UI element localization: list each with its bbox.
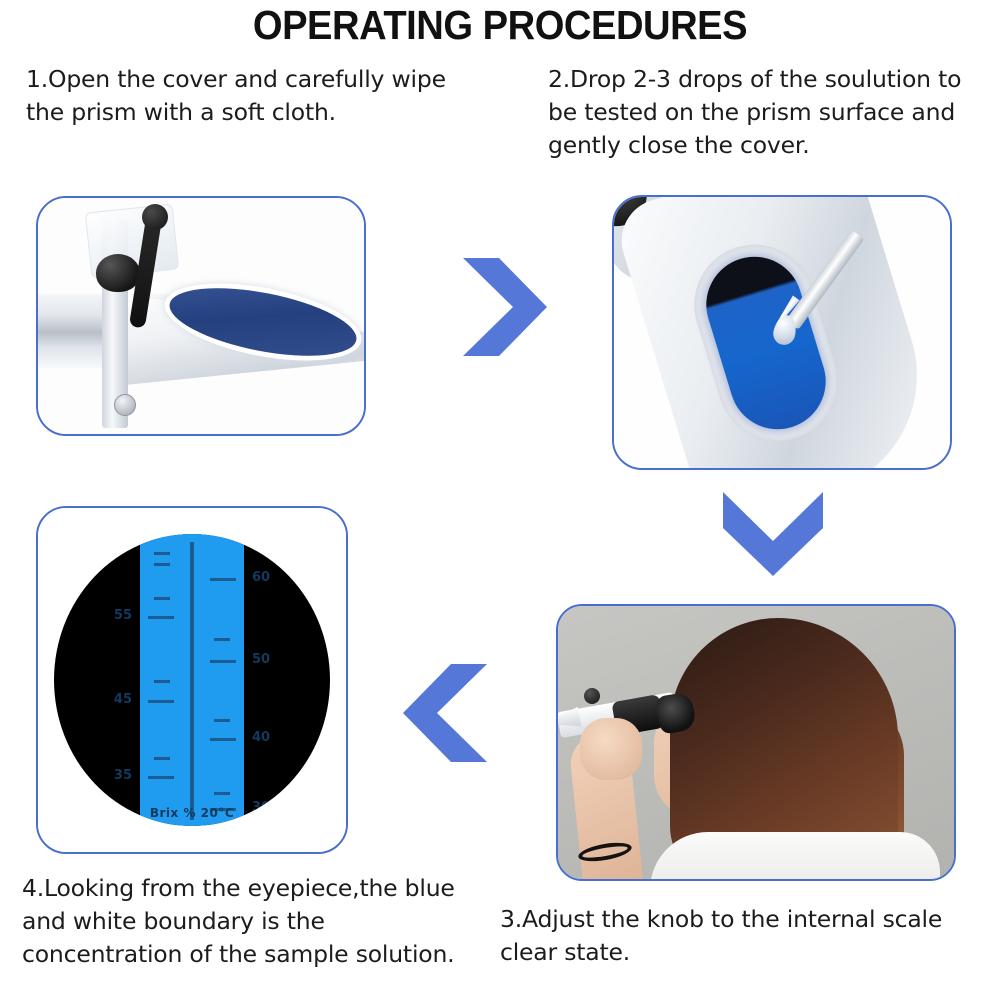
scale-tick-minor — [154, 552, 170, 555]
eyepiece-field-of-view: 60555045403530 Brix % 20°C — [54, 534, 330, 826]
scale-tick-minor — [154, 563, 170, 566]
page-title: OPERATING PROCEDURES — [35, 2, 965, 49]
scale-number: 30 — [252, 800, 270, 815]
step-1-caption: 1.Open the cover and carefully wipe the … — [26, 63, 466, 129]
scale-tick-minor — [154, 757, 170, 760]
scale-tick-minor — [154, 680, 170, 683]
woman-using-refractometer-image — [558, 606, 954, 879]
arrow-down-icon — [718, 486, 828, 578]
scale-number: 50 — [252, 652, 270, 667]
scale-tick-major — [148, 616, 174, 619]
hinge-pivot — [142, 204, 168, 230]
scale-number: 45 — [114, 692, 132, 707]
eyepiece-scale-image: 60555045403530 Brix % 20°C — [38, 508, 346, 852]
arrow-left-icon — [400, 658, 495, 768]
step-4-caption: 4.Looking from the eyepiece,the blue and… — [22, 872, 472, 971]
step-4-photo-frame: 60555045403530 Brix % 20°C — [36, 506, 348, 854]
arrow-right-icon — [455, 252, 550, 362]
scale-tick-major — [210, 578, 236, 581]
scale-unit-label: Brix % 20°C — [150, 806, 234, 820]
scale-number: 40 — [252, 730, 270, 745]
brix-scale-column: 60555045403530 Brix % 20°C — [140, 534, 244, 826]
adjust-knob — [584, 688, 600, 704]
scale-number: 60 — [252, 570, 270, 585]
infographic-stage: OPERATING PROCEDURES 1.Open the cover an… — [0, 0, 1000, 1000]
step-1-photo-frame — [36, 196, 366, 436]
step-2-caption: 2.Drop 2-3 drops of the soulution to be … — [548, 63, 978, 162]
scale-tick-minor — [154, 597, 170, 600]
step-3-caption: 3.Adjust the knob to the internal scale … — [500, 903, 970, 969]
scale-tick-major — [210, 660, 236, 663]
scale-tick-major — [148, 776, 174, 779]
scale-number: 55 — [114, 608, 132, 623]
calibration-knob — [96, 254, 140, 292]
scale-tick-minor — [214, 792, 230, 795]
scale-number: 35 — [114, 768, 132, 783]
step-2-photo-frame — [612, 195, 952, 470]
drop-solution-image — [614, 197, 950, 468]
collar-screw — [114, 394, 136, 416]
scale-tick-major — [210, 738, 236, 741]
white-shirt — [650, 832, 940, 881]
scale-tick-minor — [214, 638, 230, 641]
refractometer-side-view-image — [38, 198, 364, 434]
scale-axis — [190, 542, 194, 820]
step-3-photo-frame — [556, 604, 956, 881]
scale-tick-minor — [214, 719, 230, 722]
hand — [580, 718, 642, 780]
scale-tick-major — [148, 700, 174, 703]
